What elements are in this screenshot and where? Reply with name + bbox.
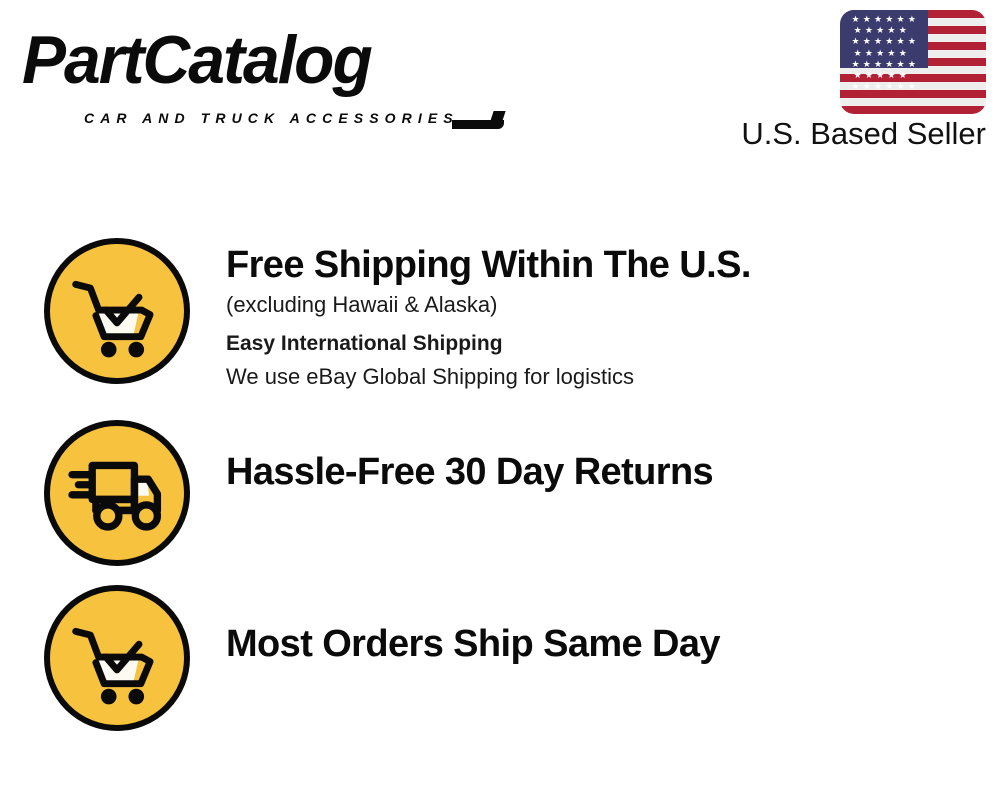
brand-logo: PartCatalog CAR AND TRUCK ACCESSORIES [22,22,492,122]
feature-row-same-day-ship: Most Orders Ship Same Day [0,585,1000,745]
delivery-truck-icon [44,420,190,566]
feature-note: (excluding Hawaii & Alaska) [226,288,751,322]
feature-subheading: Easy International Shipping [226,328,751,360]
feature-headline: Hassle-Free 30 Day Returns [226,449,713,495]
brand-tagline: CAR AND TRUCK ACCESSORIES [84,110,459,126]
feature-headline: Most Orders Ship Same Day [226,621,720,667]
us-based-seller-badge: ★★★★★★ ★★★★★ ★★★★★★ ★★★★★ ★★★★★★ ★★★★★ ★… [716,10,986,152]
logo-swoosh-accent [452,120,504,129]
shopping-cart-check-icon [44,238,190,384]
feature-subtext: We use eBay Global Shipping for logistic… [226,360,751,394]
feature-text-block: Hassle-Free 30 Day Returns [226,413,713,495]
feature-row-returns: Hassle-Free 30 Day Returns [0,413,1000,585]
shipping-info-banner: PartCatalog CAR AND TRUCK ACCESSORIES ★★… [0,0,1000,800]
brand-wordmark: PartCatalog [22,22,371,98]
flag-stars: ★★★★★★ ★★★★★ ★★★★★★ ★★★★★ ★★★★★★ ★★★★★ ★… [840,10,928,68]
feature-text-block: Most Orders Ship Same Day [226,585,720,667]
feature-list: Free Shipping Within The U.S. (excluding… [0,238,1000,745]
feature-text-block: Free Shipping Within The U.S. (excluding… [226,238,751,394]
us-based-seller-label: U.S. Based Seller [716,116,986,152]
us-flag-icon: ★★★★★★ ★★★★★ ★★★★★★ ★★★★★ ★★★★★★ ★★★★★ ★… [840,10,986,114]
feature-row-free-shipping: Free Shipping Within The U.S. (excluding… [0,238,1000,413]
shopping-cart-check-icon [44,585,190,731]
feature-headline: Free Shipping Within The U.S. [226,242,751,288]
